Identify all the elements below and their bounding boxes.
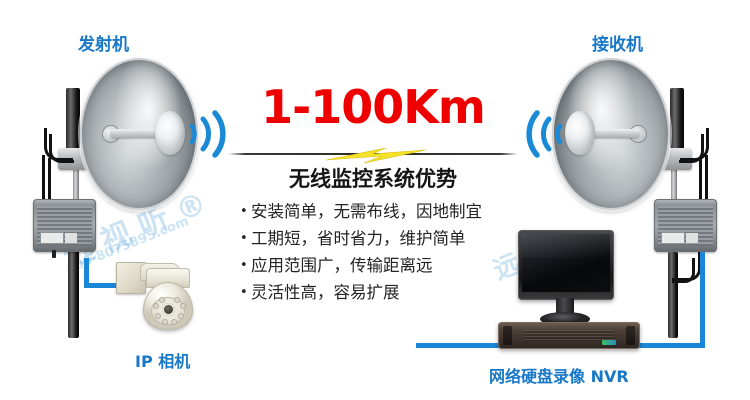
coax-cable-right-drop-1 <box>705 155 708 203</box>
coax-cable-drop-2 <box>48 158 51 203</box>
wifi-waves-left <box>186 108 230 160</box>
wifi-waves-right <box>522 108 566 160</box>
list-item: 安装简单，无需布线，因地制宜 <box>240 198 540 225</box>
nvr-left-ear <box>503 326 512 345</box>
antenna-mast-lower <box>68 248 79 338</box>
radio-pigtail-2 <box>672 258 695 283</box>
device-label-sticker <box>41 233 63 243</box>
distance-headline: 1-100Km <box>248 82 498 132</box>
nvr-chassis <box>498 322 640 349</box>
ethernet-cable-elbow <box>84 283 89 288</box>
nvr-vent-grill <box>524 330 614 341</box>
device-label-sticker-2 <box>65 233 77 243</box>
feed-boom-right <box>588 129 640 138</box>
list-item: 工期短，省时省力，维护简单 <box>240 225 540 252</box>
label-transmitter: 发射机 <box>78 30 129 55</box>
section-subheading: 无线监控系统优势 <box>248 163 498 193</box>
nvr-led-indicators <box>602 340 616 345</box>
list-item: 应用范围广，传输距离远 <box>240 252 540 279</box>
feed-horn-right <box>565 111 595 155</box>
feed-horn <box>155 111 185 155</box>
coax-cable-2 <box>49 134 74 163</box>
advantages-list: 安装简单，无需布线，因地制宜 工期短，省时省力，维护简单 应用范围广，传输距离远… <box>240 198 540 306</box>
camera-ir-leds <box>149 294 189 328</box>
coax-cable-drop-1 <box>42 155 45 203</box>
infographic-canvas: 远 视 听 ® 400-8075895.com 远 视 <box>0 0 750 400</box>
lightning-bolt-icon <box>324 146 428 164</box>
radio-unit-left <box>33 199 96 252</box>
nvr-right-ear <box>626 326 635 345</box>
label-ip-camera: IP 相机 <box>135 348 190 372</box>
ethernet-cable-right-vertical <box>700 252 705 348</box>
label-receiver: 接收机 <box>592 30 643 55</box>
radio-connector-left <box>52 250 56 258</box>
device-label-sticker-right-2 <box>686 233 698 243</box>
list-item: 灵活性高，容易扩展 <box>240 279 540 306</box>
label-nvr: 网络硬盘录像 NVR <box>489 363 629 387</box>
coax-cable-right-drop-2 <box>699 158 702 203</box>
lightning-divider <box>228 146 518 164</box>
